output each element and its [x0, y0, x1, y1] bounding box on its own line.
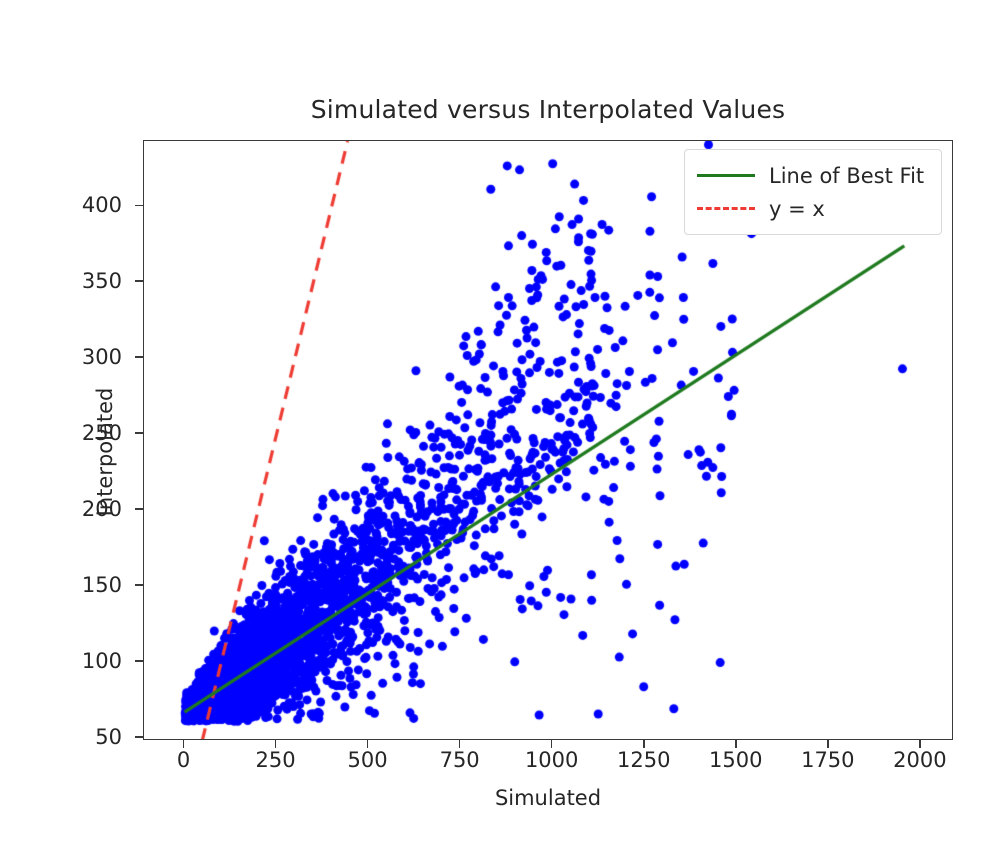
- x-tick-mark: [367, 740, 369, 748]
- legend-item-y-equals-x[interactable]: y = x: [697, 192, 929, 225]
- legend-swatch-dashed-line-icon: [697, 200, 755, 218]
- y-tick-mark: [135, 584, 143, 586]
- x-tick-mark: [735, 740, 737, 748]
- x-tick-mark: [643, 740, 645, 748]
- y-tick-mark: [135, 356, 143, 358]
- legend-label: Line of Best Fit: [769, 164, 924, 188]
- matplotlib-figure: Simulated versus Interpolated Values 501…: [0, 0, 1000, 841]
- x-tick-mark: [459, 740, 461, 748]
- x-tick-label: 1250: [617, 748, 670, 772]
- y-tick-mark: [135, 660, 143, 662]
- legend-item-line-of-best-fit[interactable]: Line of Best Fit: [697, 159, 929, 192]
- chart-legend: Line of Best Fit y = x: [684, 149, 942, 235]
- y-tick-mark: [135, 736, 143, 738]
- y-tick-label: 400: [42, 193, 122, 217]
- x-tick-label: 2000: [893, 748, 946, 772]
- y-tick-mark: [135, 432, 143, 434]
- y-tick-mark: [135, 508, 143, 510]
- x-tick-label: 1750: [801, 748, 854, 772]
- x-tick-mark: [275, 740, 277, 748]
- y-axis-label: Interpolated: [93, 302, 117, 602]
- y-tick-mark: [135, 205, 143, 207]
- y-tick-label: 100: [42, 649, 122, 673]
- x-tick-label: 0: [177, 748, 190, 772]
- x-tick-label: 500: [348, 748, 388, 772]
- legend-label: y = x: [769, 197, 825, 221]
- x-tick-label: 1500: [709, 748, 762, 772]
- x-tick-label: 750: [440, 748, 480, 772]
- y-tick-label: 50: [42, 725, 122, 749]
- x-tick-label: 1000: [525, 748, 578, 772]
- x-tick-mark: [551, 740, 553, 748]
- y-tick-mark: [135, 280, 143, 282]
- x-tick-mark: [919, 740, 921, 748]
- x-tick-mark: [183, 740, 185, 748]
- x-axis-label: Simulated: [143, 786, 953, 810]
- legend-swatch-solid-line-icon: [697, 167, 755, 185]
- chart-title: Simulated versus Interpolated Values: [143, 95, 953, 124]
- y-tick-label: 350: [42, 269, 122, 293]
- x-tick-mark: [827, 740, 829, 748]
- x-tick-label: 250: [255, 748, 295, 772]
